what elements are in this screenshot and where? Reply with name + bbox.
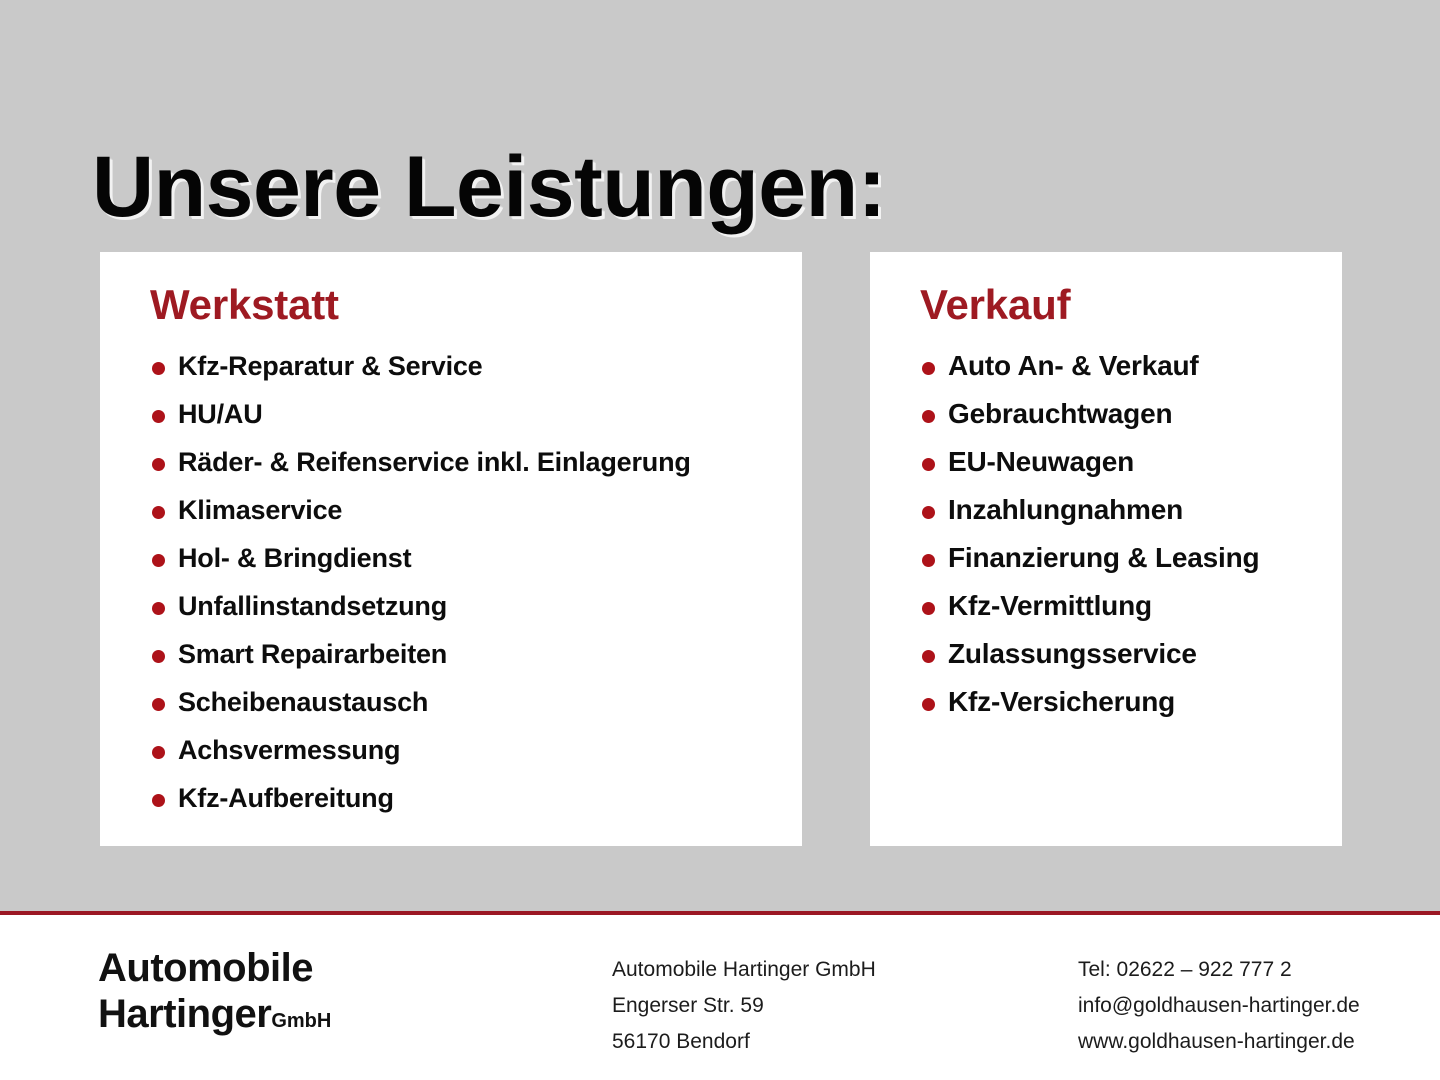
list-item-label: Kfz-Vermittlung — [948, 590, 1152, 621]
bullet-icon — [152, 650, 165, 663]
list-item: Hol- & Bringdienst — [150, 534, 778, 582]
list-item: Kfz-Vermittlung — [920, 582, 1318, 630]
list-item-label: Klimaservice — [178, 495, 342, 525]
footer-contact-block: Tel: 02622 – 922 777 2 info@goldhausen-h… — [1078, 952, 1360, 1060]
contact-email[interactable]: info@goldhausen-hartinger.de — [1078, 988, 1360, 1024]
contact-phone: Tel: 02622 – 922 777 2 — [1078, 952, 1360, 988]
service-list-werkstatt: Kfz-Reparatur & Service HU/AU Räder- & R… — [150, 342, 778, 822]
list-item-label: Inzahlungnahmen — [948, 494, 1183, 525]
list-item: Kfz-Reparatur & Service — [150, 342, 778, 390]
list-item-label: HU/AU — [178, 399, 263, 429]
card-heading-verkauf: Verkauf — [920, 282, 1318, 328]
list-item-label: Kfz-Reparatur & Service — [178, 351, 483, 381]
page-title: Unsere Leistungen: — [92, 142, 886, 232]
list-item-label: Auto An- & Verkauf — [948, 350, 1199, 381]
address-line-street: Engerser Str. 59 — [612, 988, 876, 1024]
bullet-icon — [922, 410, 935, 423]
list-item-label: Finanzierung & Leasing — [948, 542, 1259, 573]
services-cards-row: Werkstatt Kfz-Reparatur & Service HU/AU … — [0, 252, 1440, 846]
bullet-icon — [922, 458, 935, 471]
address-line-city: 56170 Bendorf — [612, 1024, 876, 1060]
logo-line-1: Automobile — [98, 945, 331, 991]
bullet-icon — [152, 410, 165, 423]
bullet-icon — [152, 794, 165, 807]
list-item-label: Unfallinstandsetzung — [178, 591, 447, 621]
list-item: Inzahlungnahmen — [920, 486, 1318, 534]
list-item: Finanzierung & Leasing — [920, 534, 1318, 582]
list-item: Kfz-Versicherung — [920, 678, 1318, 726]
list-item: Smart Repairarbeiten — [150, 630, 778, 678]
list-item: EU-Neuwagen — [920, 438, 1318, 486]
bullet-icon — [922, 506, 935, 519]
list-item-label: Smart Repairarbeiten — [178, 639, 447, 669]
list-item: Achsvermessung — [150, 726, 778, 774]
service-card-verkauf: Verkauf Auto An- & Verkauf Gebrauchtwage… — [870, 252, 1342, 846]
list-item: Auto An- & Verkauf — [920, 342, 1318, 390]
bullet-icon — [922, 698, 935, 711]
list-item: HU/AU — [150, 390, 778, 438]
bullet-icon — [152, 746, 165, 759]
footer-address-block: Automobile Hartinger GmbH Engerser Str. … — [612, 952, 876, 1060]
service-list-verkauf: Auto An- & Verkauf Gebrauchtwagen EU-Neu… — [920, 342, 1318, 726]
bullet-icon — [152, 602, 165, 615]
slide-root: Unsere Leistungen: Werkstatt Kfz-Reparat… — [0, 0, 1440, 1080]
service-card-werkstatt: Werkstatt Kfz-Reparatur & Service HU/AU … — [100, 252, 802, 846]
logo-suffix: GmbH — [271, 1010, 331, 1032]
list-item-label: Räder- & Reifenservice inkl. Einlagerung — [178, 447, 691, 477]
list-item: Unfallinstandsetzung — [150, 582, 778, 630]
bullet-icon — [152, 698, 165, 711]
bullet-icon — [152, 506, 165, 519]
bullet-icon — [922, 602, 935, 615]
bullet-icon — [922, 554, 935, 567]
list-item-label: Zulassungsservice — [948, 638, 1197, 669]
bullet-icon — [922, 362, 935, 375]
logo-line-2: Hartinger — [98, 992, 271, 1036]
bullet-icon — [152, 362, 165, 375]
list-item: Gebrauchtwagen — [920, 390, 1318, 438]
company-logo: Automobile HartingerGmbH — [98, 945, 331, 1044]
list-item-label: Gebrauchtwagen — [948, 398, 1172, 429]
bullet-icon — [922, 650, 935, 663]
list-item: Klimaservice — [150, 486, 778, 534]
list-item-label: Achsvermessung — [178, 735, 400, 765]
list-item-label: Hol- & Bringdienst — [178, 543, 411, 573]
card-heading-werkstatt: Werkstatt — [150, 282, 778, 328]
list-item-label: EU-Neuwagen — [948, 446, 1134, 477]
bullet-icon — [152, 458, 165, 471]
list-item-label: Kfz-Versicherung — [948, 686, 1175, 717]
bullet-icon — [152, 554, 165, 567]
list-item: Scheibenaustausch — [150, 678, 778, 726]
contact-website[interactable]: www.goldhausen-hartinger.de — [1078, 1024, 1360, 1060]
list-item: Zulassungsservice — [920, 630, 1318, 678]
logo-line-2-wrap: HartingerGmbH — [98, 991, 331, 1044]
list-item-label: Kfz-Aufbereitung — [178, 783, 394, 813]
list-item-label: Scheibenaustausch — [178, 687, 428, 717]
list-item: Räder- & Reifenservice inkl. Einlagerung — [150, 438, 778, 486]
address-line-company: Automobile Hartinger GmbH — [612, 952, 876, 988]
list-item: Kfz-Aufbereitung — [150, 774, 778, 822]
